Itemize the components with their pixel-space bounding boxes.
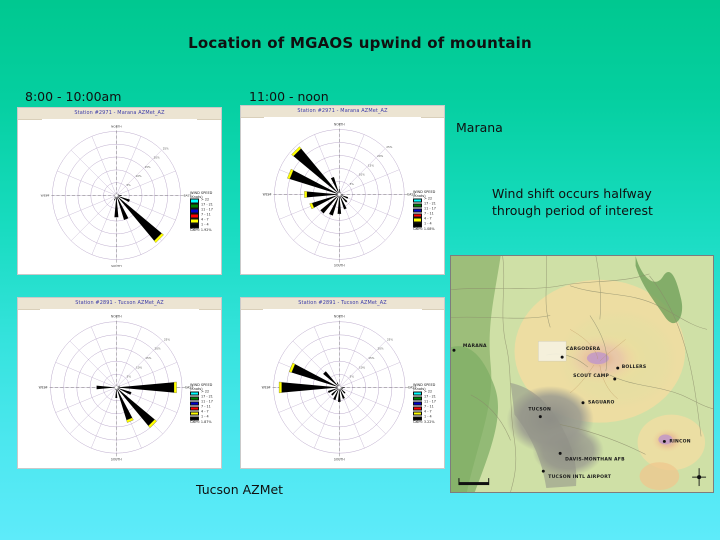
legend-swatch <box>413 213 422 217</box>
legend-swatch <box>413 208 422 212</box>
map-place-dot <box>613 377 616 380</box>
svg-text:10%: 10% <box>359 365 365 369</box>
map-place-dot <box>539 415 542 418</box>
legend-swatch <box>190 396 199 400</box>
legend-swatch <box>413 203 422 207</box>
svg-text:NORTH: NORTH <box>334 122 345 126</box>
svg-text:NORTH: NORTH <box>111 124 122 128</box>
svg-text:SOUTH: SOUTH <box>111 458 122 462</box>
legend-swatch <box>413 411 422 415</box>
map-place-label: MARANA <box>463 343 487 349</box>
svg-text:10%: 10% <box>136 365 142 369</box>
legend-swatch <box>190 209 199 213</box>
legend-calm-value: Calm: 3.22% <box>413 421 445 425</box>
svg-text:SOUTH: SOUTH <box>111 264 122 268</box>
map-place-label: SCOUT CAMP <box>573 373 609 379</box>
svg-text:20%: 20% <box>155 347 161 351</box>
slide-canvas: Location of MGAOS upwind of mountain 8:0… <box>0 0 720 540</box>
windrose-plot-area: 5%10%15%20%25%NORTHEASTSOUTHWESTWIND SPE… <box>241 309 444 468</box>
svg-text:25%: 25% <box>387 337 393 341</box>
map-place-label: TUCSON INTL AIRPORT <box>548 474 612 480</box>
label-marana-station: Marana <box>456 120 503 135</box>
windrose-legend: WIND SPEED(Knots)> 2217 - 2111 - 177 - 1… <box>413 191 443 231</box>
legend-swatch <box>190 204 199 208</box>
svg-text:25%: 25% <box>386 145 392 149</box>
annotation-line-2: through period of interest <box>492 202 720 219</box>
map-place-label: BOLLERS <box>622 364 647 370</box>
legend-calm-value: Calm: 1.92% <box>190 229 222 233</box>
legend-swatch <box>413 406 422 410</box>
svg-text:5%: 5% <box>350 182 355 186</box>
windrose-tucson-midday: Station #2891 - Tucson AZMet_AZ5%10%15%2… <box>240 297 445 469</box>
map-place-dot <box>663 440 666 443</box>
legend-swatch <box>413 401 422 405</box>
label-tucson-azmet-station: Tucson AZMet <box>196 482 283 497</box>
label-morning-period: 8:00 - 10:00am <box>25 89 121 104</box>
svg-text:10%: 10% <box>359 173 365 177</box>
annotation-wind-shift: Wind shift occurs halfway through period… <box>492 185 720 219</box>
map-place-label: TUCSON <box>528 407 551 413</box>
svg-text:NORTH: NORTH <box>334 314 345 318</box>
legend-swatch <box>190 411 199 415</box>
svg-text:20%: 20% <box>377 154 383 158</box>
svg-text:5%: 5% <box>350 375 355 379</box>
label-midday-period: 11:00 - noon <box>249 89 329 104</box>
page-title: Location of MGAOS upwind of mountain <box>0 34 720 52</box>
map-svg: MARANACARGODERABOLLERSSCOUT CAMPSAGUAROT… <box>451 256 713 492</box>
legend-swatch <box>413 396 422 400</box>
svg-text:SOUTH: SOUTH <box>334 458 345 462</box>
svg-text:25%: 25% <box>164 337 170 341</box>
legend-label: 1 - 4 <box>201 224 209 228</box>
legend-swatch <box>413 218 422 222</box>
svg-text:WEST: WEST <box>41 194 50 198</box>
legend-swatch <box>190 406 199 410</box>
map-place-dot <box>542 470 545 473</box>
map-place-dot <box>616 367 619 370</box>
map-place-dot <box>452 349 455 352</box>
map-place-label: SAGUARO <box>588 400 615 406</box>
windrose-legend: WIND SPEED(Knots)> 2217 - 2111 - 177 - 1… <box>190 385 220 425</box>
annotation-line-1: Wind shift occurs halfway <box>492 185 720 202</box>
map-place-label: DAVIS-MONTHAN AFB <box>565 456 625 462</box>
windrose-marana-morning: Station #2971 - Marana AZMet_AZ5%10%15%2… <box>17 107 222 275</box>
svg-text:15%: 15% <box>368 163 374 167</box>
windrose-legend: WIND SPEED(Knots)> 2217 - 2111 - 177 - 1… <box>413 385 443 425</box>
svg-text:WEST: WEST <box>262 386 271 390</box>
windrose-marana-midday: Station #2971 - Marana AZMet_AZ5%10%15%2… <box>240 105 445 275</box>
legend-swatch <box>190 401 199 405</box>
svg-text:5%: 5% <box>126 183 131 187</box>
topographic-map-image: MARANACARGODERABOLLERSSCOUT CAMPSAGUAROT… <box>450 255 714 493</box>
windrose-legend: WIND SPEED(Knots)> 2217 - 2111 - 177 - 1… <box>190 192 220 232</box>
svg-text:5%: 5% <box>127 375 132 379</box>
svg-text:15%: 15% <box>368 356 374 360</box>
svg-text:15%: 15% <box>145 356 151 360</box>
svg-text:25%: 25% <box>163 147 169 151</box>
map-place-label: RINCON <box>669 438 691 444</box>
map-place-label: CARGODERA <box>566 346 600 352</box>
svg-text:10%: 10% <box>136 174 142 178</box>
map-place-dot <box>582 401 585 404</box>
svg-text:20%: 20% <box>154 156 160 160</box>
windrose-plot-area: 5%10%15%20%25%NORTHEASTSOUTHWESTWIND SPE… <box>18 309 221 468</box>
svg-text:WEST: WEST <box>263 193 272 197</box>
svg-text:20%: 20% <box>378 347 384 351</box>
windrose-plot-area: 5%10%15%20%25%NORTHEASTSOUTHWESTWIND SPE… <box>241 117 444 274</box>
svg-text:WEST: WEST <box>39 386 48 390</box>
windrose-plot-area: 5%10%15%20%25%NORTHEASTSOUTHWESTWIND SPE… <box>18 119 221 274</box>
legend-swatch <box>190 219 199 223</box>
legend-swatch <box>190 214 199 218</box>
windrose-tucson-morning: Station #2891 - Tucson AZMet_AZ5%10%15%2… <box>17 297 222 469</box>
svg-text:15%: 15% <box>145 165 151 169</box>
legend-calm-value: Calm: 1.87% <box>190 421 222 425</box>
svg-text:NORTH: NORTH <box>111 314 122 318</box>
map-place-dot <box>559 452 562 455</box>
legend-calm-value: Calm: 1.08% <box>413 228 445 232</box>
svg-text:SOUTH: SOUTH <box>334 264 345 268</box>
map-place-dot <box>561 356 564 359</box>
